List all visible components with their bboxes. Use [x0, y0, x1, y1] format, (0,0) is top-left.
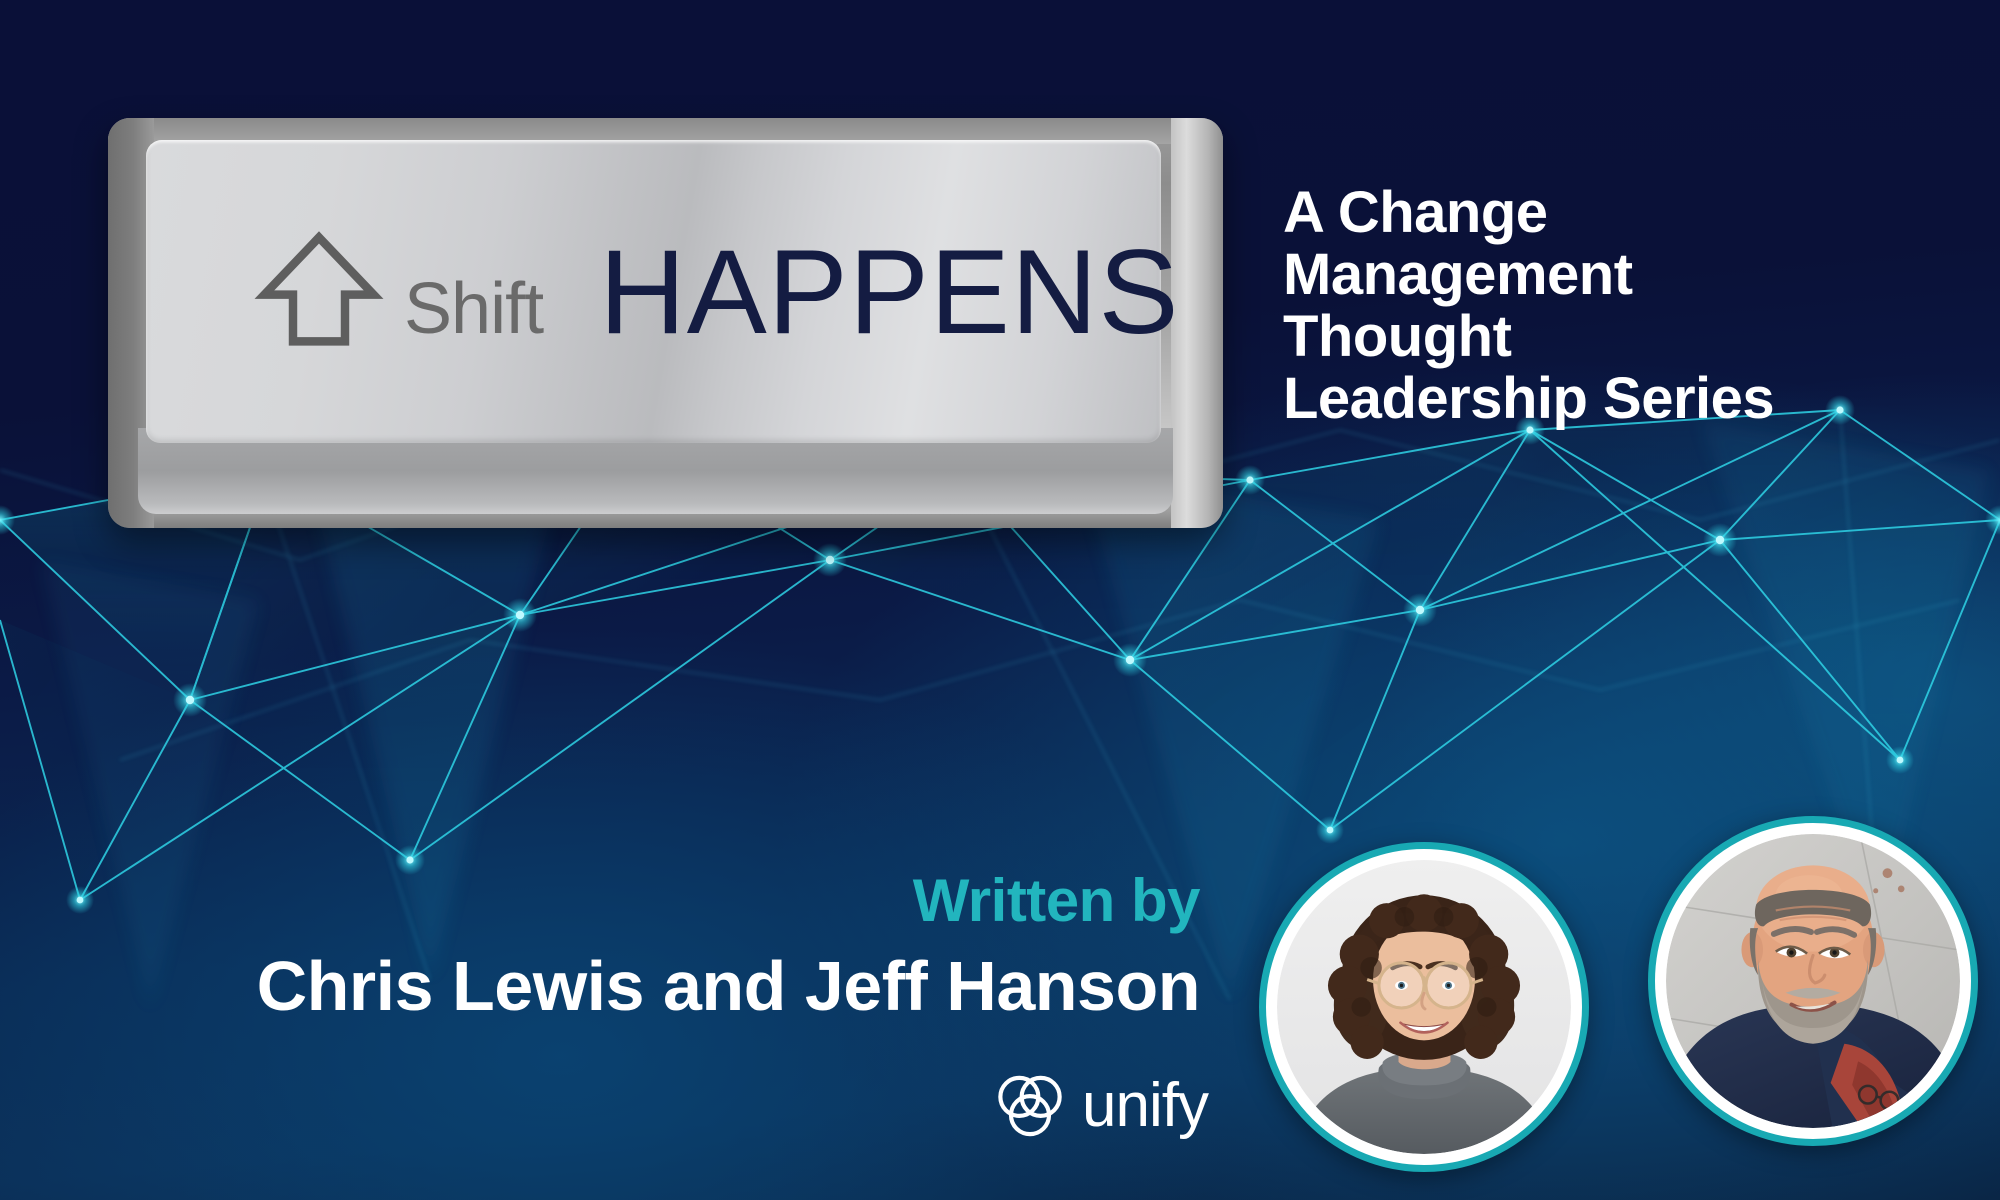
- headline-line-3: Thought: [1283, 306, 1973, 368]
- shift-arrow-icon: [254, 227, 384, 357]
- unify-wordmark: unify: [1082, 1075, 1208, 1137]
- unify-logo: unify: [992, 1068, 1208, 1144]
- unify-trefoil-icon: [992, 1068, 1068, 1144]
- headline-block: A Change Management Thought Leadership S…: [1283, 182, 1973, 430]
- keycap-label-group: Shift HAPPENS: [404, 223, 1180, 361]
- avatar-jeff-image: [1666, 834, 1960, 1128]
- keycap-happens-label: HAPPENS: [599, 223, 1180, 361]
- keycap-face: Shift HAPPENS: [146, 140, 1161, 443]
- headline-line-2: Management: [1283, 244, 1973, 306]
- avatar-chris-lewis: [1259, 842, 1589, 1172]
- avatar-jeff-portrait: [1666, 834, 1960, 1128]
- authors-label: Chris Lewis and Jeff Hanson: [120, 948, 1200, 1025]
- credits-block: Written by Chris Lewis and Jeff Hanson: [120, 868, 1200, 1025]
- keycap-shift-label: Shift: [404, 268, 543, 350]
- shift-keycap: Shift HAPPENS: [108, 118, 1223, 528]
- avatar-chris-portrait: [1277, 860, 1571, 1154]
- banner-root: Shift HAPPENS A Change Management Though…: [0, 0, 2000, 1200]
- written-by-label: Written by: [120, 868, 1200, 934]
- avatar-jeff-hanson: [1648, 816, 1978, 1146]
- headline-line-1: A Change: [1283, 182, 1973, 244]
- avatar-chris-image: [1277, 860, 1571, 1154]
- headline-line-4: Leadership Series: [1283, 368, 1973, 430]
